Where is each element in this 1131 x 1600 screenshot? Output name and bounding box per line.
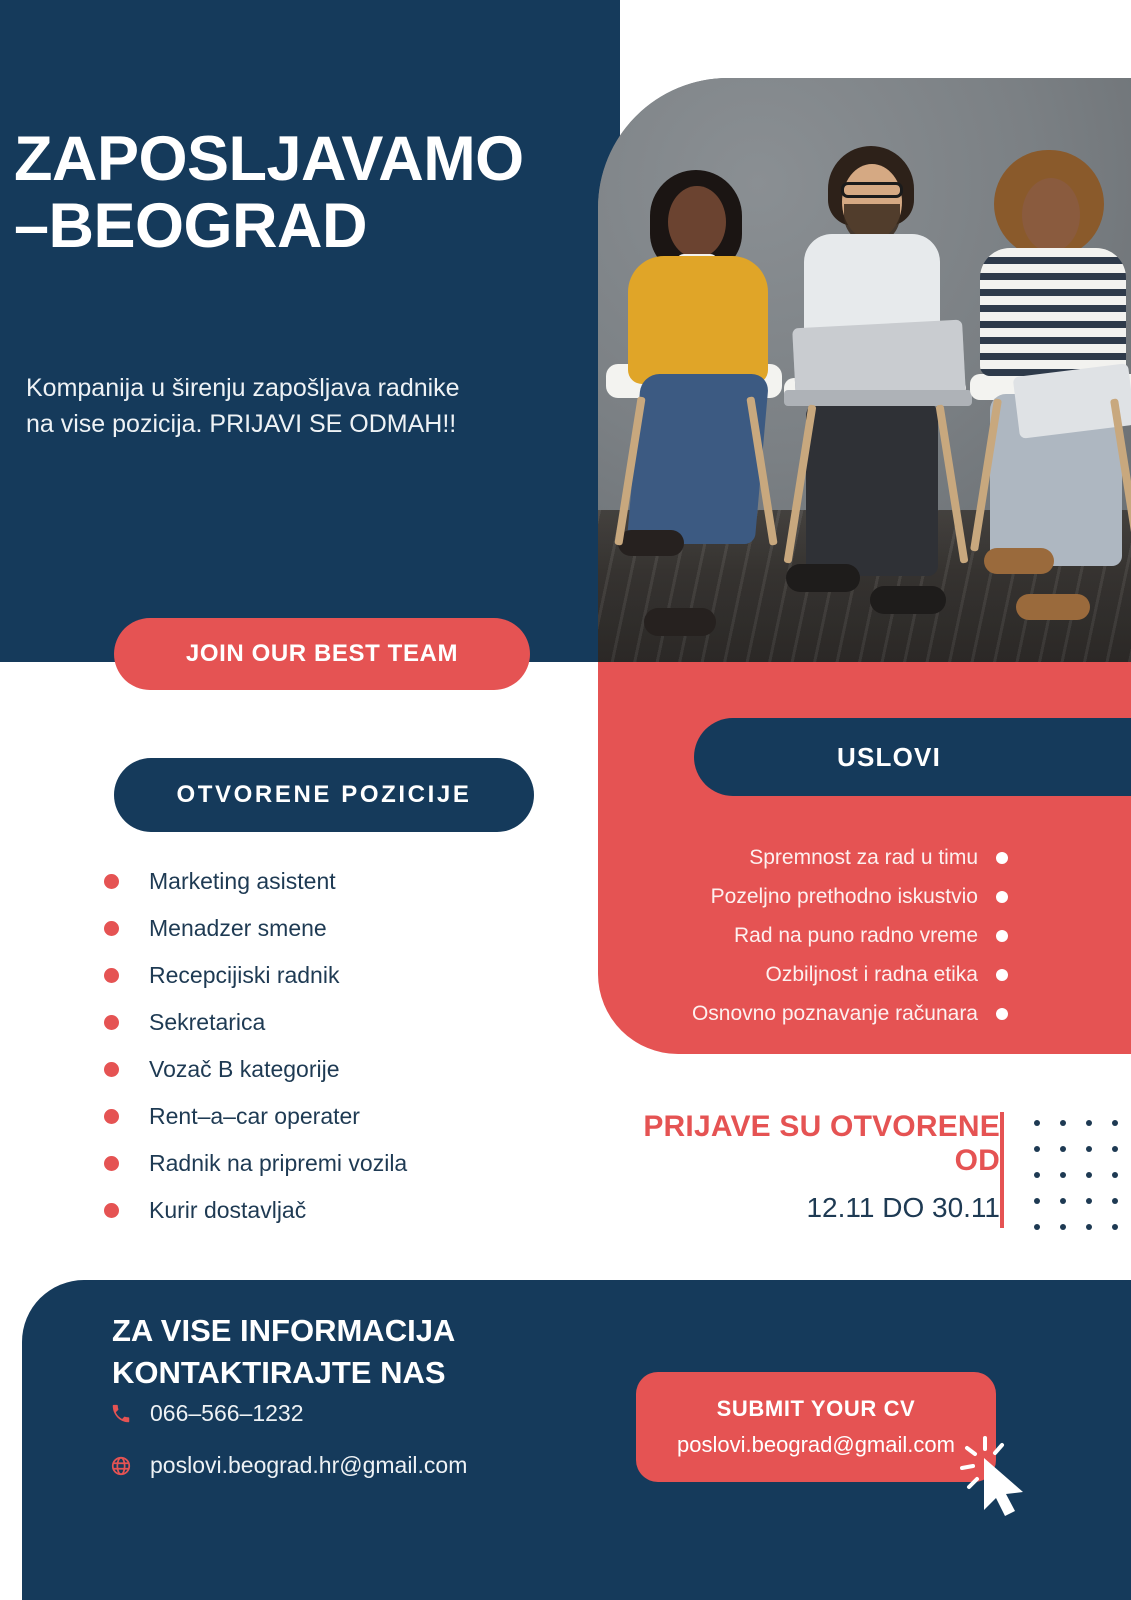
bullet-dot-icon xyxy=(104,921,119,936)
person-1-shoe-left xyxy=(618,530,684,556)
title-line-1: ZAPOSLJAVAMO xyxy=(14,126,614,193)
title-line-2: –BEOGRAD xyxy=(14,193,614,260)
subtitle-line-1: Kompanija u širenju zapošljava radnike xyxy=(26,370,586,406)
contact-email-row[interactable]: poslovi.beograd.hr@gmail.com xyxy=(108,1452,467,1479)
requirements-heading-label: USLOVI xyxy=(837,742,941,773)
person-2-shoe-left xyxy=(786,564,860,592)
list-item: Recepcijiski radnik xyxy=(104,952,574,999)
list-item: Kurir dostavljač xyxy=(104,1187,574,1234)
open-positions-heading: OTVORENE POZICIJE xyxy=(114,758,534,832)
contact-title-line-2: KONTAKTIRAJTE NAS xyxy=(112,1352,582,1394)
join-our-best-team-banner[interactable]: JOIN OUR BEST TEAM xyxy=(114,618,530,690)
requirements-list: Spremnost za rad u timu Pozeljno prethod… xyxy=(620,838,1008,1033)
bullet-dot-icon xyxy=(996,930,1008,942)
person-2-legs xyxy=(806,400,938,576)
person-3-shoe-right xyxy=(1016,594,1090,620)
person-3-body xyxy=(980,248,1126,376)
contact-title: ZA VISE INFORMACIJA KONTAKTIRAJTE NAS xyxy=(112,1310,582,1394)
positions-heading-label: OTVORENE POZICIJE xyxy=(177,781,472,809)
person-3-face xyxy=(1022,178,1080,252)
dates-range: 12.11 DO 30.11 xyxy=(596,1192,1000,1224)
list-item: Marketing asistent xyxy=(104,858,574,905)
person-2-shoe-right xyxy=(870,586,946,614)
list-item: Radnik na pripremi vozila xyxy=(104,1140,574,1187)
list-item: Rent–a–car operater xyxy=(104,1093,574,1140)
hero-navy-background xyxy=(0,0,620,662)
bullet-dot-icon xyxy=(996,1008,1008,1020)
position-label: Marketing asistent xyxy=(149,868,336,895)
position-label: Vozač B kategorije xyxy=(149,1056,340,1083)
requirement-label: Osnovno poznavanje računara xyxy=(692,1002,978,1026)
bullet-dot-icon xyxy=(996,852,1008,864)
click-cursor-icon xyxy=(960,1432,1040,1518)
list-item: Menadzer smene xyxy=(104,905,574,952)
requirement-label: Spremnost za rad u timu xyxy=(749,846,978,870)
job-poster: ZAPOSLJAVAMO –BEOGRAD Kompanija u širenj… xyxy=(0,0,1131,1600)
page-title: ZAPOSLJAVAMO –BEOGRAD xyxy=(14,126,614,260)
laptop-base xyxy=(784,390,972,406)
submit-cv-label: SUBMIT YOUR CV xyxy=(717,1396,916,1422)
bullet-dot-icon xyxy=(996,969,1008,981)
contact-phone-row[interactable]: 066–566–1232 xyxy=(108,1400,304,1427)
bullet-dot-icon xyxy=(996,891,1008,903)
bullet-dot-icon xyxy=(104,1203,119,1218)
person-1-body xyxy=(628,256,768,384)
bullet-dot-icon xyxy=(104,1062,119,1077)
dates-divider xyxy=(1000,1112,1004,1228)
list-item: Sekretarica xyxy=(104,999,574,1046)
position-label: Kurir dostavljač xyxy=(149,1197,306,1224)
bullet-dot-icon xyxy=(104,968,119,983)
position-label: Sekretarica xyxy=(149,1009,265,1036)
position-label: Radnik na pripremi vozila xyxy=(149,1150,407,1177)
bullet-dot-icon xyxy=(104,1109,119,1124)
position-label: Recepcijiski radnik xyxy=(149,962,339,989)
requirement-label: Pozeljno prethodno iskustvio xyxy=(711,885,978,909)
contact-email-value: poslovi.beograd.hr@gmail.com xyxy=(150,1452,467,1479)
subtitle-line-2: na vise pozicija. PRIJAVI SE ODMAH!! xyxy=(26,406,586,442)
dates-heading: PRIJAVE SU OTVORENE OD xyxy=(596,1110,1000,1178)
requirement-label: Rad na puno radno vreme xyxy=(734,924,978,948)
hero-subtitle: Kompanija u širenju zapošljava radnike n… xyxy=(26,370,586,443)
requirement-label: Ozbiljnost i radna etika xyxy=(766,963,978,987)
join-pill-label: JOIN OUR BEST TEAM xyxy=(186,640,458,668)
list-item: Pozeljno prethodno iskustvio xyxy=(620,877,1008,916)
list-item: Ozbiljnost i radna etika xyxy=(620,955,1008,994)
list-item: Spremnost za rad u timu xyxy=(620,838,1008,877)
list-item: Rad na puno radno vreme xyxy=(620,916,1008,955)
person-1-face xyxy=(668,186,726,258)
application-dates: PRIJAVE SU OTVORENE OD 12.11 DO 30.11 xyxy=(596,1110,1000,1224)
bullet-dot-icon xyxy=(104,874,119,889)
hero-photo xyxy=(598,78,1131,662)
submit-cv-email: poslovi.beograd@gmail.com xyxy=(677,1432,955,1458)
list-item: Osnovno poznavanje računara xyxy=(620,994,1008,1033)
person-2-glasses xyxy=(841,182,903,198)
position-label: Menadzer smene xyxy=(149,915,327,942)
submit-cv-button[interactable]: SUBMIT YOUR CV poslovi.beograd@gmail.com xyxy=(636,1372,996,1482)
person-3-shoe-left xyxy=(984,548,1054,574)
bullet-dot-icon xyxy=(104,1156,119,1171)
decorative-dot-grid xyxy=(1034,1120,1131,1232)
positions-list: Marketing asistent Menadzer smene Recepc… xyxy=(104,858,574,1234)
phone-icon xyxy=(108,1403,134,1425)
person-1-shoe-right xyxy=(644,608,716,636)
position-label: Rent–a–car operater xyxy=(149,1103,360,1130)
bullet-dot-icon xyxy=(104,1015,119,1030)
contact-phone-value: 066–566–1232 xyxy=(150,1400,304,1427)
contact-title-line-1: ZA VISE INFORMACIJA xyxy=(112,1310,582,1352)
requirements-heading: USLOVI xyxy=(694,718,1131,796)
list-item: Vozač B kategorije xyxy=(104,1046,574,1093)
globe-icon xyxy=(108,1455,134,1477)
